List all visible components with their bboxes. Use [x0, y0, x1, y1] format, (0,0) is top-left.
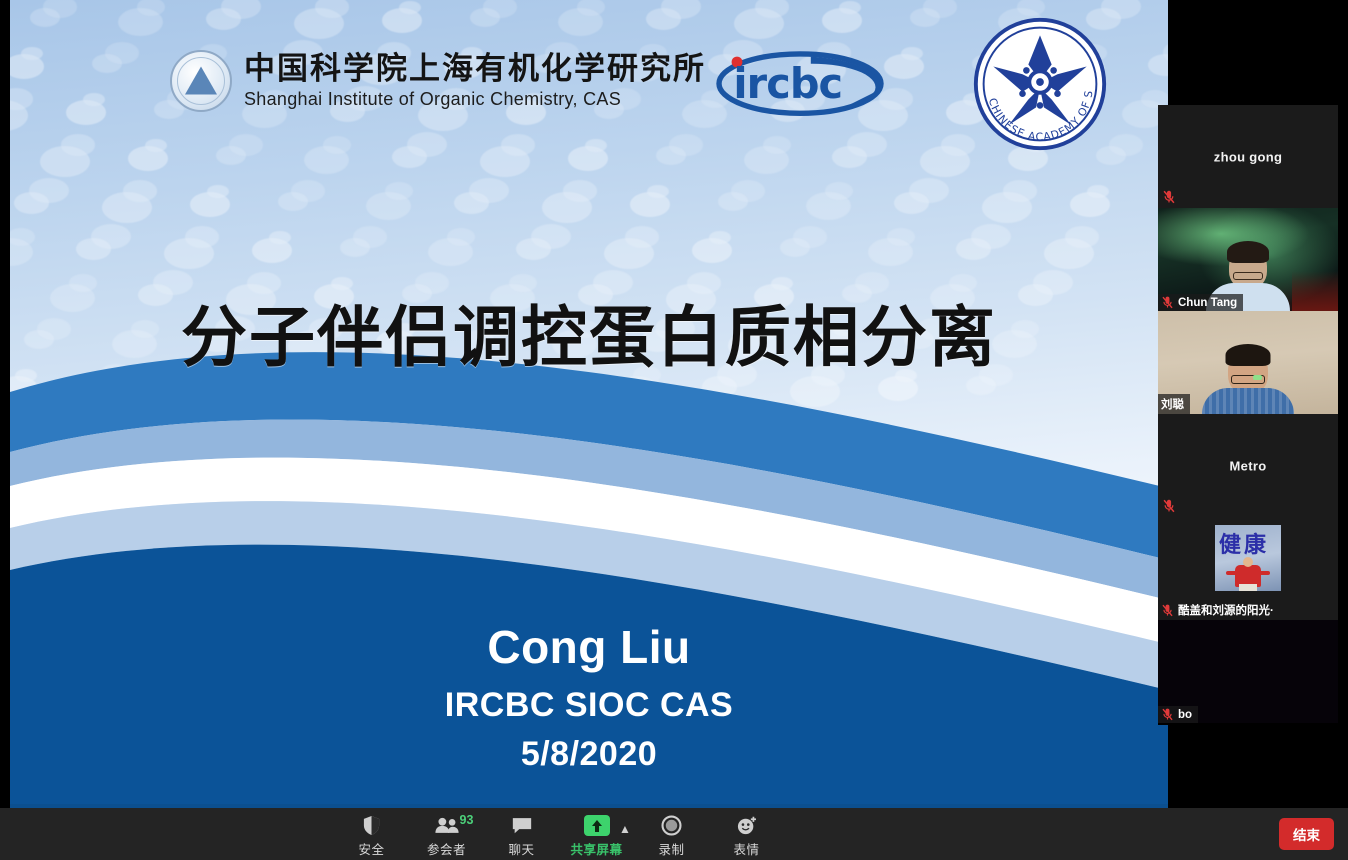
sioc-logo: 中国科学院上海有机化学研究所 Shanghai Institute of Org… [170, 50, 706, 112]
toolbar-participants-button[interactable]: 93 参会者 [409, 810, 484, 858]
presenter-affiliation: IRCBC SIOC CAS [10, 686, 1168, 725]
sioc-logo-en: Shanghai Institute of Organic Chemistry,… [244, 90, 706, 108]
video-tile[interactable]: Metro [1158, 414, 1338, 517]
toolbar-reactions-button[interactable]: 表情 [709, 810, 784, 858]
toolbar-chat-label: 聊天 [508, 839, 534, 858]
toolbar-reactions-label: 表情 [733, 839, 759, 858]
participant-name: zhou gong [1158, 149, 1338, 164]
video-tile[interactable]: bo [1158, 620, 1338, 723]
video-tile[interactable]: 刘聪 [1158, 311, 1338, 414]
participant-label: 刘聪 [1158, 394, 1190, 414]
share-screen-icon [584, 815, 610, 836]
participants-icon: 93 [434, 815, 460, 836]
video-tile[interactable]: zhou gong [1158, 105, 1338, 208]
chat-bubble-icon [511, 815, 533, 836]
participants-count-badge: 93 [460, 813, 474, 827]
participant-name: bo [1178, 709, 1192, 721]
mic-muted-icon [1162, 499, 1176, 513]
slide-title: 分子伴侣调控蛋白质相分离 [10, 302, 1168, 373]
participant-label: bo [1158, 706, 1198, 723]
participant-label: 酷盖和刘源的阳光· [1158, 600, 1280, 620]
record-icon [661, 815, 682, 836]
sioc-logo-cn: 中国科学院上海有机化学研究所 [244, 54, 706, 85]
share-options-chevron-up-icon[interactable]: ▲ [619, 823, 631, 835]
toolbar-share-screen-label: 共享屏幕 [570, 839, 622, 858]
presentation-date: 5/8/2020 [10, 735, 1168, 774]
mic-muted-icon [1161, 296, 1174, 309]
video-tile[interactable]: 健康 酷盖和刘源的阳光· [1158, 517, 1338, 620]
mic-muted-icon [1162, 190, 1176, 204]
presenter-name: Cong Liu [10, 620, 1168, 674]
cas-seal-logo: CHINESE ACADEMY OF SCIENCES [962, 14, 1118, 154]
meeting-toolbar: 安全 93 参会者 [0, 808, 1348, 860]
sioc-seal-icon [170, 50, 232, 112]
avatar-caption: 健康 [1219, 527, 1269, 559]
shared-screen-slide[interactable]: 中国科学院上海有机化学研究所 Shanghai Institute of Org… [10, 0, 1168, 808]
mic-muted-icon [1161, 708, 1174, 721]
participant-label: Chun Tang [1158, 294, 1243, 311]
toolbar-chat-button[interactable]: 聊天 [484, 810, 559, 858]
reactions-icon [736, 815, 758, 836]
video-tile[interactable]: Chun Tang [1158, 208, 1338, 311]
participant-name: 酷盖和刘源的阳光· [1178, 602, 1274, 618]
zoom-meeting-window: 中国科学院上海有机化学研究所 Shanghai Institute of Org… [0, 0, 1348, 860]
toolbar-participants-label: 参会者 [427, 839, 466, 858]
toolbar-record-button[interactable]: 录制 [634, 810, 709, 858]
participant-avatar: 健康 [1215, 525, 1281, 591]
shield-icon [362, 815, 381, 836]
slide-logo-row: 中国科学院上海有机化学研究所 Shanghai Institute of Org… [10, 0, 1168, 165]
participant-name: Metro [1158, 458, 1338, 473]
participant-filmstrip[interactable]: zhou gong [1158, 105, 1338, 725]
toolbar-record-label: 录制 [658, 839, 684, 858]
participant-name: Chun Tang [1178, 297, 1237, 309]
svg-text:ircbc: ircbc [733, 60, 842, 108]
end-meeting-button[interactable]: 结束 [1279, 818, 1334, 850]
ircbc-logo: ircbc [710, 36, 890, 124]
toolbar-security-button[interactable]: 安全 [334, 810, 409, 858]
mic-muted-icon [1161, 604, 1174, 617]
participant-name: 刘聪 [1161, 396, 1184, 412]
slide-presenter-block: Cong Liu IRCBC SIOC CAS 5/8/2020 [10, 620, 1168, 774]
toolbar-security-label: 安全 [358, 839, 384, 858]
